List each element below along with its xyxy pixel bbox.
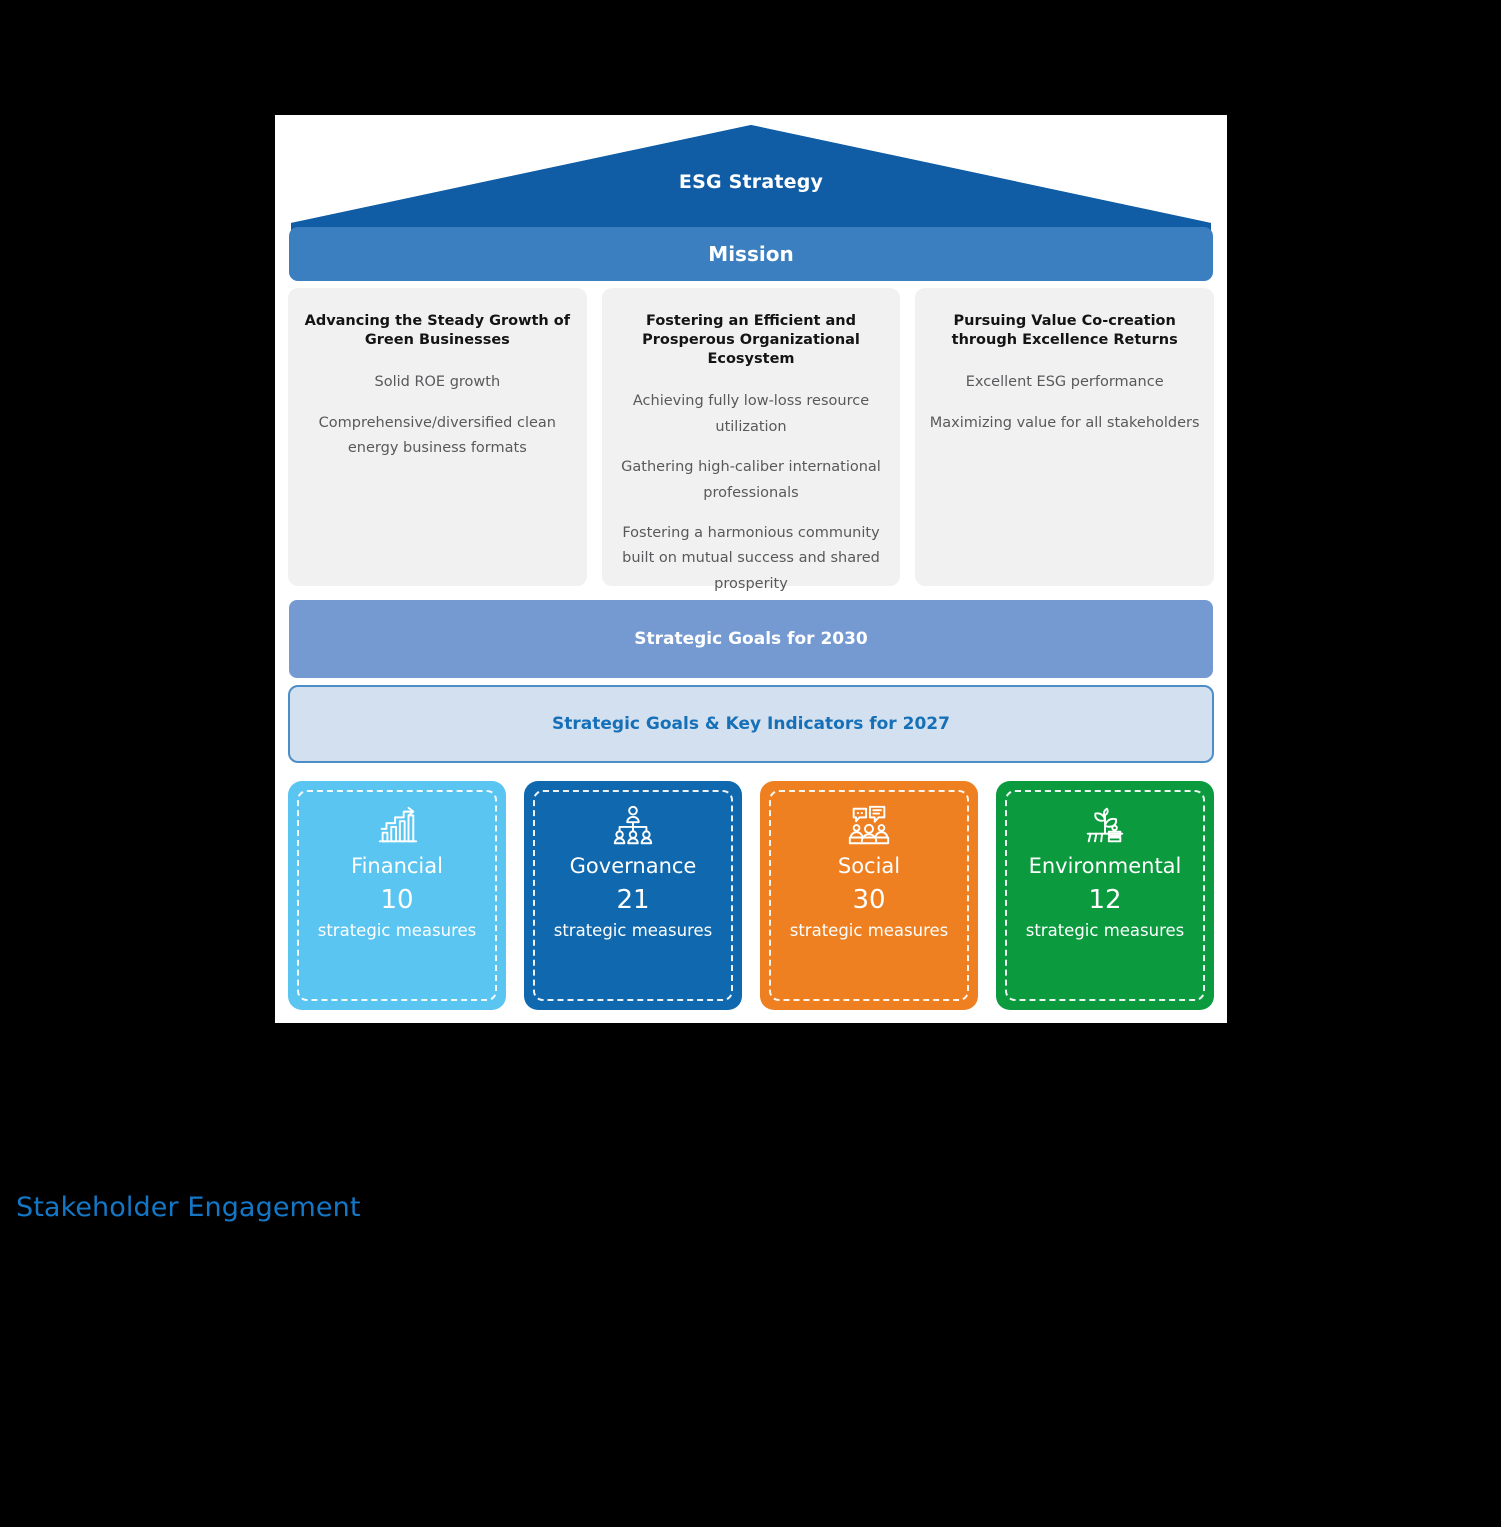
pillar-card: Pursuing Value Co-creation through Excel… [915,288,1214,586]
pillar-title: Fostering an Efficient and Prosperous Or… [616,312,887,369]
category-count: 30 [852,886,885,915]
category-unit: strategic measures [790,921,949,940]
category-name: Financial [351,855,443,878]
category-name: Social [838,855,900,878]
category-card-governance[interactable]: Governance 21 strategic measures [524,781,742,1010]
category-name: Environmental [1029,855,1182,878]
pillar-title: Pursuing Value Co-creation through Excel… [929,312,1200,350]
pillar-item: Comprehensive/diversified clean energy b… [302,411,573,462]
mission-label: Mission [708,242,793,266]
category-name: Governance [570,855,697,878]
category-card-social[interactable]: Social 30 strategic measures [760,781,978,1010]
strategic-goals-2027-label: Strategic Goals & Key Indicators for 202… [552,714,950,734]
pillar-card: Advancing the Steady Growth of Green Bus… [288,288,587,586]
strategic-goals-2030-bar: Strategic Goals for 2030 [289,600,1213,678]
pillar-card: Fostering an Efficient and Prosperous Or… [602,288,901,586]
pillar-item: Excellent ESG performance [929,370,1200,395]
mission-bar: Mission [289,227,1213,281]
strategic-goals-2030-label: Strategic Goals for 2030 [634,629,868,649]
esg-strategy-label: ESG Strategy [291,171,1211,193]
pillar-item: Fostering a harmonious community built o… [616,521,887,597]
pillar-item: Maximizing value for all stakeholders [929,411,1200,436]
section-heading: Stakeholder Engagement [16,1192,361,1223]
pillar-title: Advancing the Steady Growth of Green Bus… [302,312,573,350]
category-unit: strategic measures [1026,921,1185,940]
plant-sprout-icon [1082,803,1128,849]
strategic-goals-2027-bar: Strategic Goals & Key Indicators for 202… [288,685,1214,763]
people-chat-icon [846,803,892,849]
pillar-item: Achieving fully low-loss resource utiliz… [616,389,887,440]
pillar-item: Solid ROE growth [302,370,573,395]
pillar-item: Gathering high-caliber international pro… [616,455,887,506]
org-hierarchy-icon [610,803,656,849]
pillar-cards: Advancing the Steady Growth of Green Bus… [288,288,1214,586]
category-unit: strategic measures [318,921,477,940]
category-cards: Financial 10 strategic measures [288,781,1214,1010]
esg-strategy-roof: ESG Strategy [291,123,1211,231]
category-card-environmental[interactable]: Environmental 12 strategic measures [996,781,1214,1010]
category-count: 10 [380,886,413,915]
category-count: 21 [616,886,649,915]
bar-chart-growth-icon [374,803,420,849]
category-count: 12 [1088,886,1121,915]
category-card-financial[interactable]: Financial 10 strategic measures [288,781,506,1010]
category-unit: strategic measures [554,921,713,940]
esg-strategy-diagram: ESG Strategy Mission Advancing the Stead… [275,115,1227,1023]
